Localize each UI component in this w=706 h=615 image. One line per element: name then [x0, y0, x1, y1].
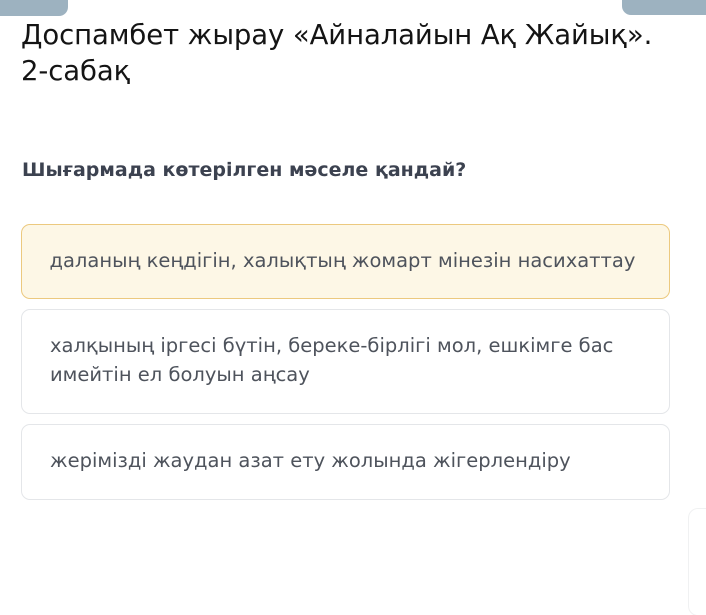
- page-title: Доспамбет жырау «Айналайын Ақ Жайық». 2-…: [21, 18, 661, 90]
- answer-option-label: жерімізді жаудан азат ету жолында жігерл…: [50, 447, 641, 475]
- top-left-bar: [0, 0, 68, 16]
- answer-option-2[interactable]: халқының іргесі бүтін, береке-бірлігі мо…: [21, 309, 670, 414]
- answer-option-label: даланың кеңдігін, халықтың жомарт мінезі…: [50, 247, 642, 275]
- answer-option-1[interactable]: даланың кеңдігін, халықтың жомарт мінезі…: [21, 224, 670, 299]
- offscreen-card-edge: [688, 508, 706, 615]
- answer-option-3[interactable]: жерімізді жаудан азат ету жолында жігерл…: [21, 424, 670, 500]
- answer-option-label: халқының іргесі бүтін, береке-бірлігі мо…: [50, 332, 641, 389]
- answer-options-list: даланың кеңдігін, халықтың жомарт мінезі…: [21, 224, 670, 510]
- question-text: Шығармада көтерілген мәселе қандай?: [22, 158, 672, 183]
- top-right-bar: [622, 0, 706, 15]
